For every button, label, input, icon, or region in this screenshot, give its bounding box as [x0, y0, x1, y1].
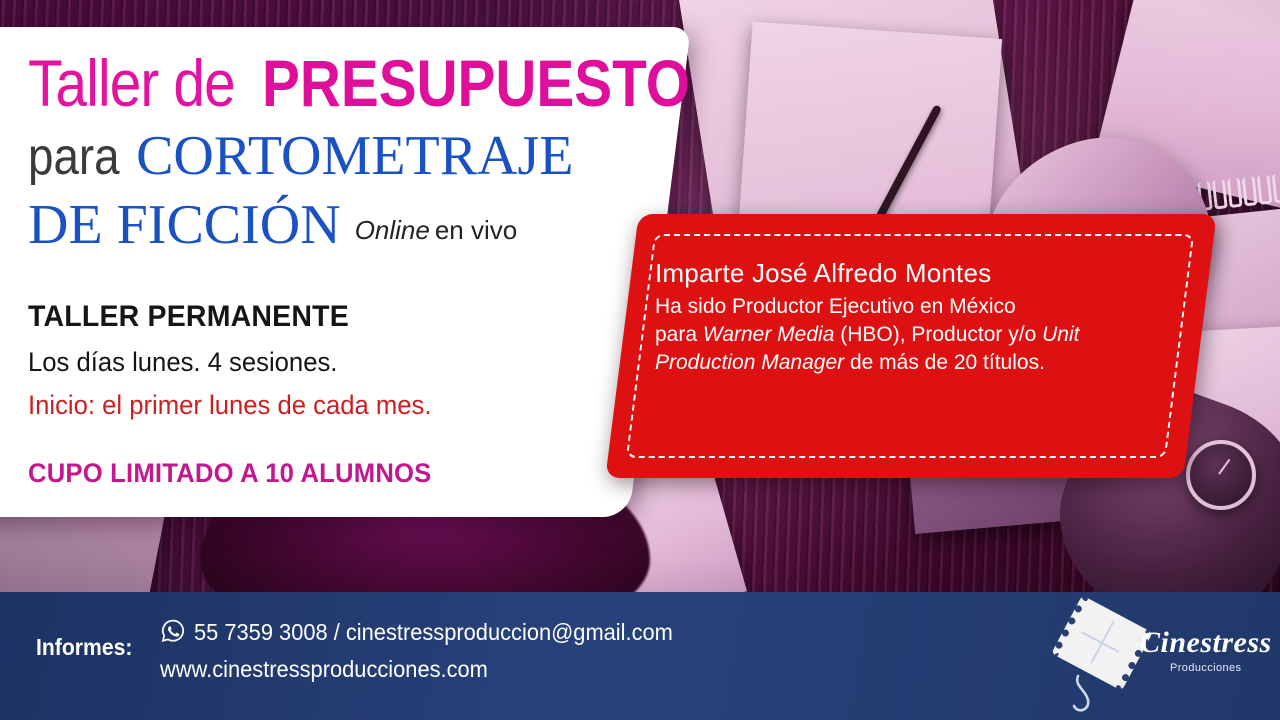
- instructor-bio: Ha sido Productor Ejecutivo en México pa…: [655, 293, 1155, 378]
- logo-tagline: Producciones: [1170, 662, 1241, 674]
- headline-line-2: para CORTOMETRAJE: [28, 128, 574, 184]
- logo-wordmark: Cinestress: [1140, 626, 1272, 660]
- taller-permanente-label: TALLER PERMANENTE: [28, 300, 349, 334]
- instructor-name: Imparte José Alfredo Montes: [655, 258, 1155, 289]
- contact-footer: Informes: 55 7359 3008 / cinestressprodu…: [0, 592, 1280, 720]
- kite-tail-icon: [1072, 674, 1116, 718]
- bio-line-1: Ha sido Productor Ejecutivo en México: [655, 295, 1016, 318]
- headline-online: Online: [355, 217, 430, 243]
- headline-para: para: [28, 131, 120, 183]
- headline-de-ficcion: DE FICCIÓN: [28, 197, 341, 253]
- schedule-days: Los días lunes. 4 sesiones.: [28, 347, 337, 378]
- contact-phone-email[interactable]: 55 7359 3008 / cinestressproduccion@gmai…: [194, 619, 673, 646]
- informes-label: Informes:: [36, 634, 132, 661]
- bio-unit: Unit: [1042, 323, 1079, 346]
- start-date-note: Inicio: el primer lunes de cada mes.: [28, 390, 431, 421]
- bio-line-3-suffix: de más de 20 títulos.: [844, 351, 1045, 374]
- cinestress-logo: Cinestress Producciones: [1044, 608, 1264, 708]
- headline-line-1: Taller de PRESUPUESTO: [28, 50, 760, 116]
- headline-presupuesto: PRESUPUESTO: [262, 50, 690, 116]
- bio-line-2-mid: (HBO), Productor y/o: [834, 323, 1042, 346]
- flyer-canvas: Company's Growth: [0, 0, 1280, 720]
- instructor-text-block: Imparte José Alfredo Montes Ha sido Prod…: [655, 258, 1155, 378]
- whatsapp-icon[interactable]: [160, 618, 186, 644]
- headline-en-vivo: en vivo: [435, 217, 517, 243]
- bio-production-manager: Production Manager: [655, 351, 844, 374]
- headline-line-3: DE FICCIÓNOnlineen vivo: [28, 197, 517, 253]
- headline-taller-de: Taller de: [28, 50, 235, 116]
- bio-warner-media: Warner Media: [703, 323, 835, 346]
- headline-cortometraje: CORTOMETRAJE: [136, 128, 573, 184]
- bio-line-2-prefix: para: [655, 323, 703, 346]
- capacity-note: CUPO LIMITADO A 10 ALUMNOS: [28, 458, 431, 489]
- contact-website[interactable]: www.cinestressproducciones.com: [160, 656, 488, 683]
